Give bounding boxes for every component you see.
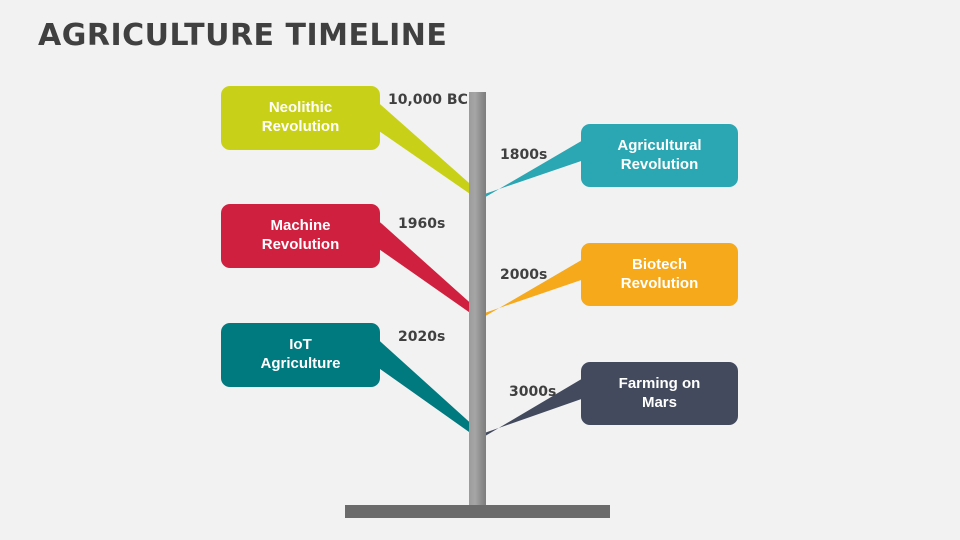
node-farming-on-mars[interactable]: Farming on Mars [581,362,738,425]
node-label-line2: Mars [642,394,677,411]
slide-canvas: AGRICULTURE TIMELINE Neolithic Revolutio… [0,0,960,540]
node-label-line2: Revolution [262,236,340,253]
node-label-line1: Biotech [632,256,687,273]
connector-neolithic [366,97,486,205]
node-biotech-revolution[interactable]: Biotech Revolution [581,243,738,306]
node-label: Agricultural Revolution [617,137,701,175]
node-label: Neolithic Revolution [262,99,340,137]
node-label-line1: Agricultural [617,137,701,154]
node-label: Machine Revolution [262,217,340,255]
timeline-pole [469,92,486,510]
node-label-line2: Revolution [621,275,699,292]
node-label-line2: Agriculture [260,355,340,372]
node-label-line1: Machine [270,217,330,234]
date-label-mars: 3000s [509,384,556,400]
connector-iot [366,334,486,444]
date-label-neolithic: 10,000 BC [388,92,468,108]
date-label-iot: 2020s [398,329,445,345]
date-label-biotech: 2000s [500,267,547,283]
node-label-line1: IoT [289,336,312,353]
node-label: IoT Agriculture [260,336,340,374]
node-label-line2: Revolution [621,156,699,173]
date-label-machine: 1960s [398,216,445,232]
date-label-agricultural: 1800s [500,147,547,163]
connector-biotech [470,255,590,325]
timeline-pole-base [345,505,610,518]
node-iot-agriculture[interactable]: IoT Agriculture [221,323,380,387]
node-label-line1: Neolithic [269,99,332,116]
node-label-line1: Farming on [619,375,701,392]
node-label: Farming on Mars [619,375,701,413]
node-neolithic-revolution[interactable]: Neolithic Revolution [221,86,380,150]
node-agricultural-revolution[interactable]: Agricultural Revolution [581,124,738,187]
page-title: AGRICULTURE TIMELINE [38,18,447,53]
node-machine-revolution[interactable]: Machine Revolution [221,204,380,268]
node-label-line2: Revolution [262,118,340,135]
node-label: Biotech Revolution [621,256,699,294]
